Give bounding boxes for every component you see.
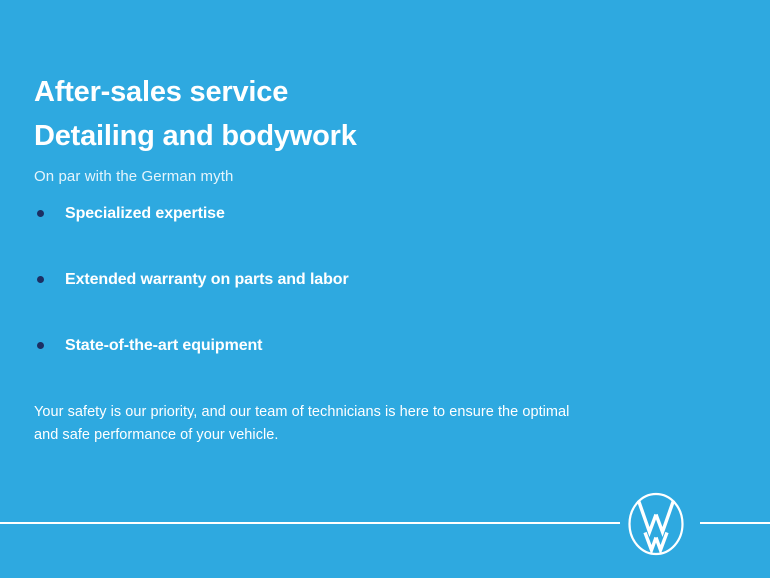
bullet-dot-icon bbox=[37, 210, 44, 217]
bullet-item-label: State-of-the-art equipment bbox=[65, 335, 262, 356]
list-item: Specialized expertise bbox=[34, 203, 724, 269]
page-title-line-2: Detailing and bodywork bbox=[34, 114, 714, 158]
slide-root: After-sales service Detailing and bodywo… bbox=[0, 0, 770, 578]
bullet-dot-icon bbox=[37, 342, 44, 349]
volkswagen-logo-icon bbox=[627, 492, 685, 556]
list-item: Extended warranty on parts and labor bbox=[34, 269, 724, 335]
page-title-line-1: After-sales service bbox=[34, 70, 714, 114]
bullet-item-label: Specialized expertise bbox=[65, 203, 225, 224]
body-paragraph: Your safety is our priority, and our tea… bbox=[34, 401, 594, 447]
volkswagen-logo bbox=[627, 492, 685, 556]
bullet-item-label: Extended warranty on parts and labor bbox=[65, 269, 349, 290]
list-item: State-of-the-art equipment bbox=[34, 335, 724, 401]
footer-divider-right bbox=[700, 522, 770, 524]
heading-block: After-sales service Detailing and bodywo… bbox=[34, 70, 714, 188]
footer-divider-left bbox=[0, 522, 620, 524]
page-subtitle: On par with the German myth bbox=[34, 166, 714, 188]
bullet-dot-icon bbox=[37, 276, 44, 283]
feature-bullet-list: Specialized expertise Extended warranty … bbox=[34, 203, 724, 401]
